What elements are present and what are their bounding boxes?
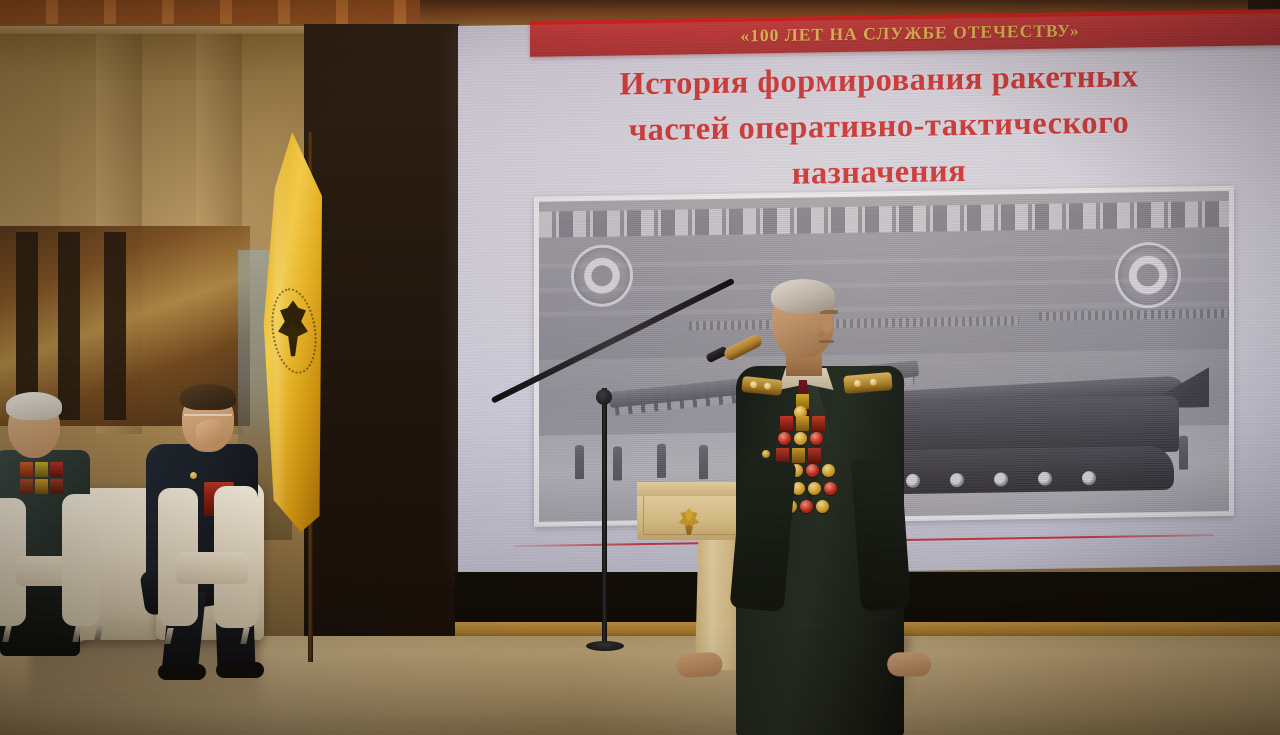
flag-emblem	[274, 282, 312, 380]
slide-banner-text: «100 ЛЕТ НА СЛУЖБЕ ОТЕЧЕСТВУ»	[740, 20, 1079, 46]
presentation-scene-photo: «100 ЛЕТ НА СЛУЖБЕ ОТЕЧЕСТВУ» История фо…	[0, 0, 1280, 735]
speaker-hand-right	[887, 652, 931, 676]
organization-flag	[252, 132, 330, 652]
guest-officer-shoe-right	[216, 662, 264, 678]
speaker-arm-right	[851, 456, 911, 611]
ceiling-light-strip	[0, 0, 420, 24]
speaker-hand-left	[676, 652, 723, 678]
wall-ledge	[0, 26, 312, 34]
speaker-ear	[820, 314, 833, 332]
slide-title: История формирования ракетных частей опе…	[494, 51, 1264, 201]
microphone-stand-base	[586, 641, 624, 651]
guest-officer-shoe-left	[158, 664, 206, 680]
speaker-hair	[771, 279, 835, 313]
microphone-stand-pole	[602, 388, 607, 648]
russian-coat-of-arms-icon	[677, 508, 701, 536]
microphone-boom-joint	[596, 389, 612, 405]
speaker-officer	[728, 282, 918, 735]
armchair-middle-arm	[62, 494, 100, 626]
armchair-right-seat	[176, 552, 248, 584]
guest-officer-hair	[180, 384, 236, 410]
guest-veteran-hair	[6, 392, 62, 420]
